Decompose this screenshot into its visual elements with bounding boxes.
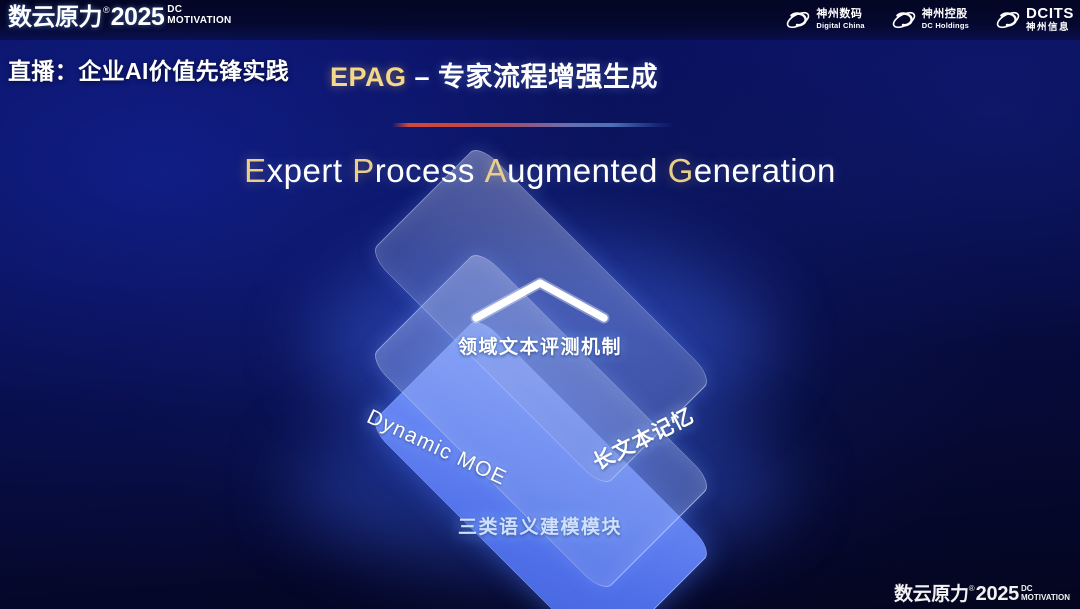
footer-watermark-logo: 数云原力 ® 2025 DC MOTIVATION — [894, 584, 1070, 605]
title-abbreviation: EPAG — [330, 62, 407, 92]
diagram-label-top: 领域文本评测机制 — [0, 332, 1080, 359]
swirl-logo-icon — [891, 9, 917, 31]
title-chinese: 专家流程增强生成 — [438, 62, 658, 92]
watermark-year: 2025 — [976, 584, 1019, 605]
brand-logo: 数云原力 ® 2025 DC MOTIVATION — [8, 4, 232, 31]
subtitle-word3-rest: ugmented — [507, 152, 658, 189]
partner-name-en: DC Holdings — [922, 22, 969, 30]
partner-logo-text: 神州控股 DC Holdings — [922, 9, 969, 30]
partner-name-cn: 神州控股 — [922, 9, 969, 20]
partner-name-en: Digital China — [816, 22, 864, 30]
partner-logo-text: 神州数码 Digital China — [816, 9, 864, 30]
title-divider — [392, 123, 674, 127]
subtitle-word1-cap: E — [244, 152, 267, 189]
brand-year: 2025 — [111, 4, 165, 31]
partner-name-cn: 神州信息 — [1026, 22, 1074, 33]
watermark-name-cn: 数云原力 — [894, 584, 969, 605]
partner-logo-dc-holdings: 神州控股 DC Holdings — [891, 9, 969, 31]
live-session-title: 直播：企业AI价值先锋实践 — [8, 52, 289, 86]
swirl-logo-icon — [785, 9, 811, 31]
watermark-subtext: DC MOTIVATION — [1021, 585, 1070, 602]
subtitle-word4-rest: eneration — [694, 152, 836, 189]
subtitle-word1-rest: xpert — [267, 152, 343, 189]
slide-canvas: 数云原力 ® 2025 DC MOTIVATION 直播：企业AI价值先锋实践 … — [0, 0, 1080, 609]
brand-name-cn: 数云原力 — [8, 4, 102, 31]
title-separator: – — [407, 62, 439, 92]
swirl-logo-icon — [995, 9, 1021, 31]
registered-mark-icon: ® — [103, 4, 110, 16]
watermark-sub-line2: MOTIVATION — [1021, 593, 1070, 602]
subtitle-word4-cap: G — [668, 152, 694, 189]
brand-subtext: DC MOTIVATION — [167, 5, 231, 26]
partner-logo-dcits: DCITS 神州信息 — [995, 6, 1074, 33]
registered-mark-icon: ® — [969, 584, 975, 594]
diagram-label-bottom: 三类语义建模模块 — [0, 512, 1080, 539]
brand-sub-line1: DC — [167, 5, 231, 15]
watermark-sub-line1: DC — [1021, 585, 1070, 593]
partner-name-en: DCITS — [1026, 6, 1074, 21]
chevron-up-icon — [462, 272, 618, 328]
page-title: EPAG – 专家流程增强生成 — [330, 55, 658, 94]
subtitle-english: Expert Process Augmented Generation — [0, 152, 1080, 190]
partner-name-cn: 神州数码 — [816, 9, 864, 20]
partner-logo-row: 神州数码 Digital China 神州控股 DC Holdings DCIT… — [785, 6, 1074, 33]
brand-sub-line2: MOTIVATION — [167, 15, 231, 26]
partner-logo-digital-china: 神州数码 Digital China — [785, 9, 864, 31]
subtitle-word3-cap: A — [485, 152, 508, 189]
partner-logo-text: DCITS 神州信息 — [1026, 6, 1074, 33]
subtitle-word2-cap: P — [352, 152, 375, 189]
subtitle-word2-rest: rocess — [375, 152, 475, 189]
